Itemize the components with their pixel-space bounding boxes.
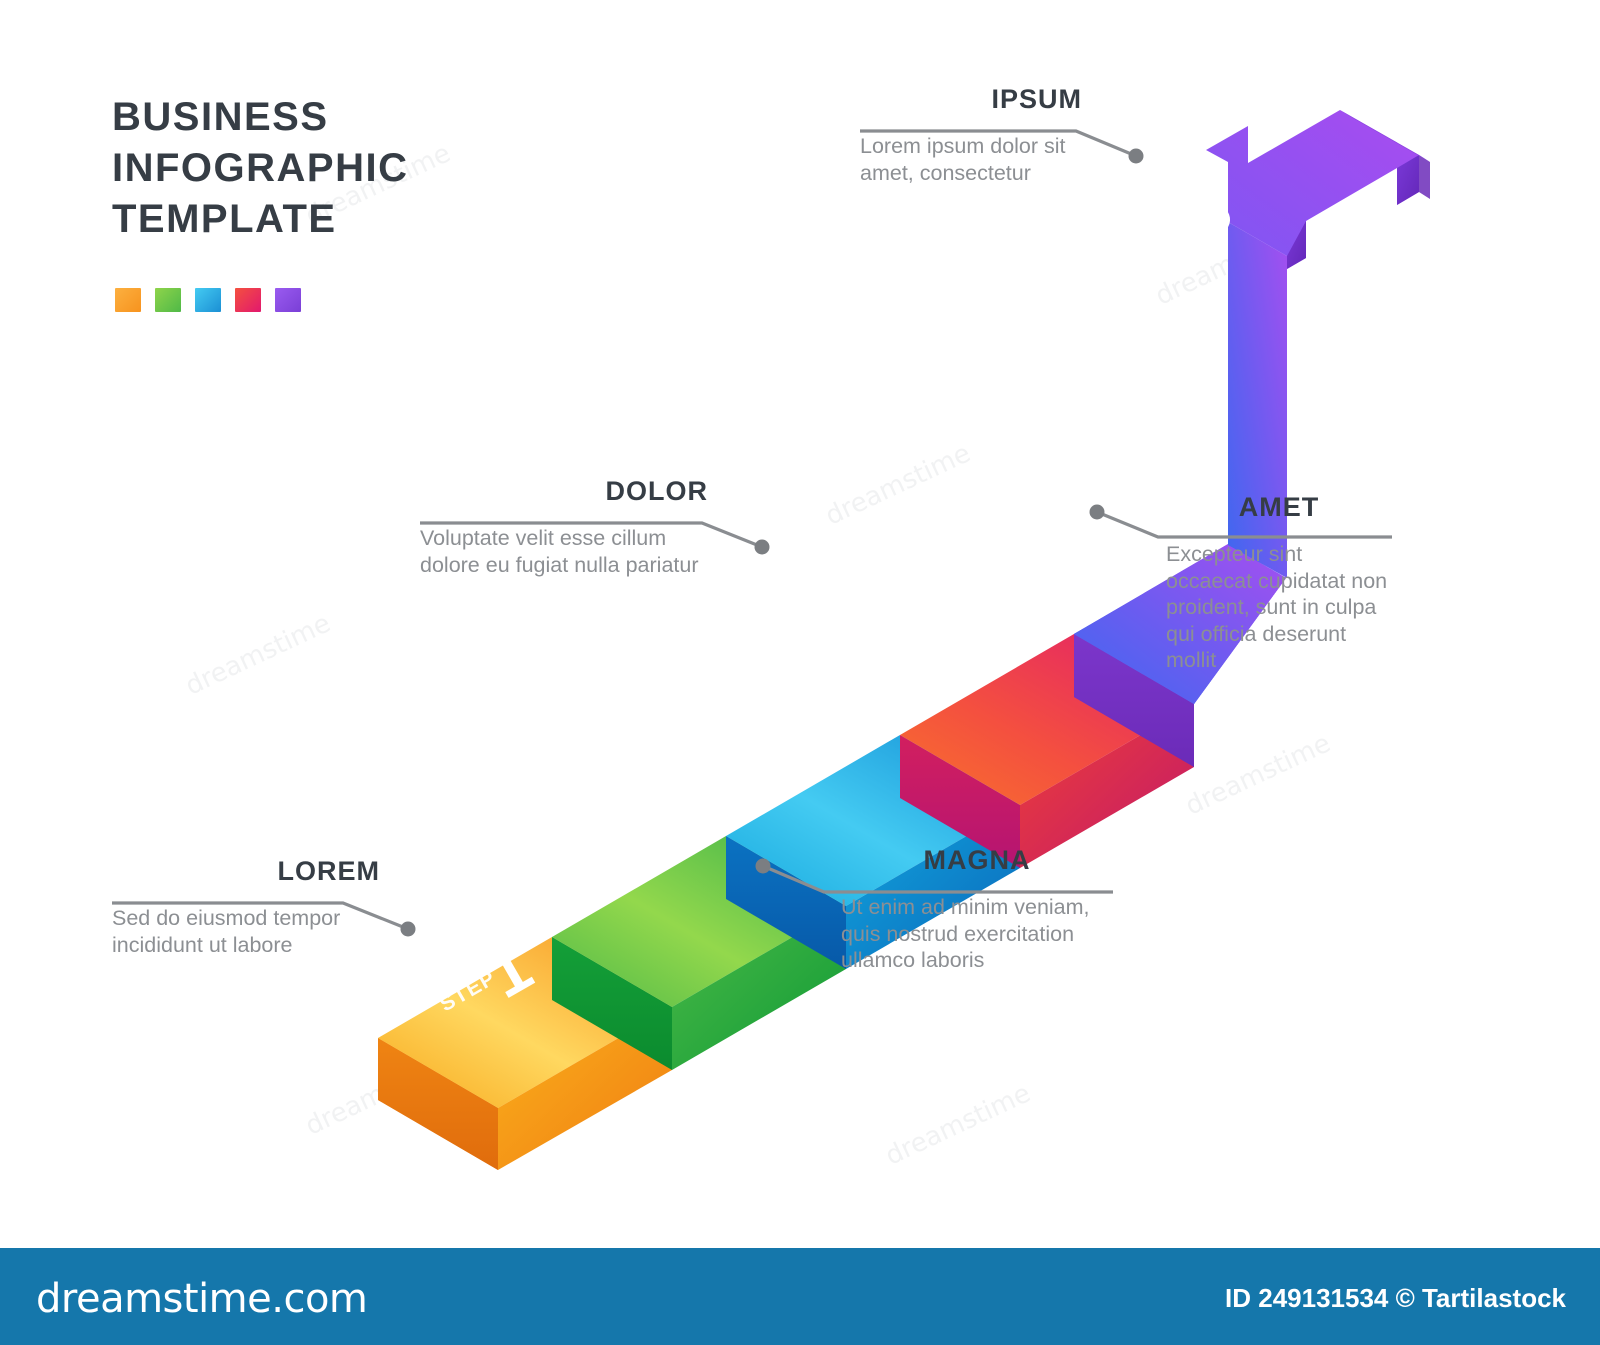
swatch-green: [155, 288, 181, 312]
callout-dolor: DOLOR Voluptate velit esse cillum dolore…: [420, 476, 708, 578]
step-5-step-word: STEP: [1116, 206, 1180, 256]
step-2-number: 2: [648, 738, 717, 820]
title-line-2: INFOGRAPHIC: [112, 143, 532, 194]
page-title: BUSINESS INFOGRAPHIC TEMPLATE: [112, 92, 532, 245]
callout-lorem-body: Sed do eiusmod tempor incididunt ut labo…: [112, 905, 380, 958]
color-swatch-row: [115, 288, 301, 312]
callout-amet: AMET Excepteur sint occaecat cupidatat n…: [1166, 492, 1392, 674]
step-4-number: 4: [1000, 368, 1069, 451]
swatch-purple: [275, 288, 301, 312]
callout-lorem: LOREM Sed do eiusmod tempor incididunt u…: [112, 856, 380, 958]
step-3-number: 3: [825, 548, 894, 630]
callout-magna-body: Ut enim ad minim veniam, quis nostrud ex…: [841, 894, 1113, 974]
title-line-1: BUSINESS: [112, 92, 532, 143]
dreamstime-logo[interactable]: dreamstime.com: [36, 1276, 367, 1322]
footer-bar: dreamstime.com ID 249131534 © Tartilasto…: [0, 1248, 1600, 1345]
step-3-step-word: STEP: [767, 584, 831, 634]
callout-amet-body: Excepteur sint occaecat cupidatat non pr…: [1166, 541, 1392, 674]
step-4-step-word: STEP: [941, 402, 1005, 452]
callout-magna: MAGNA Ut enim ad minim veniam, quis nost…: [841, 845, 1113, 974]
step-2-labels: STEP 2: [591, 738, 717, 823]
infographic-canvas: dreamstime dreamstime dreamstime dreamst…: [0, 0, 1600, 1345]
arrow-bevel-right[interactable]: [1419, 155, 1430, 199]
swatch-red: [235, 288, 261, 312]
callout-ipsum: IPSUM Lorem ipsum dolor sit amet, consec…: [860, 84, 1082, 186]
callout-dolor-body: Voluptate velit esse cillum dolore eu fu…: [420, 525, 708, 578]
swatch-blue: [195, 288, 221, 312]
callout-dolor-title: DOLOR: [420, 476, 708, 506]
callout-lorem-title: LOREM: [112, 856, 380, 886]
swatch-orange: [115, 288, 141, 312]
callout-ipsum-body: Lorem ipsum dolor sit amet, consectetur: [860, 133, 1082, 186]
callout-magna-title: MAGNA: [841, 845, 1113, 875]
step-3-labels: STEP 3: [767, 548, 894, 635]
step-2-step-word: STEP: [591, 772, 655, 822]
image-id-credit: ID 249131534 © Tartilastock: [1225, 1283, 1566, 1314]
step-4-labels: STEP 4: [941, 368, 1069, 453]
callout-ipsum-title: IPSUM: [860, 84, 1082, 114]
title-line-3: TEMPLATE: [112, 194, 532, 245]
step-5-labels: STEP 5: [1116, 172, 1244, 257]
callout-amet-title: AMET: [1166, 492, 1392, 522]
